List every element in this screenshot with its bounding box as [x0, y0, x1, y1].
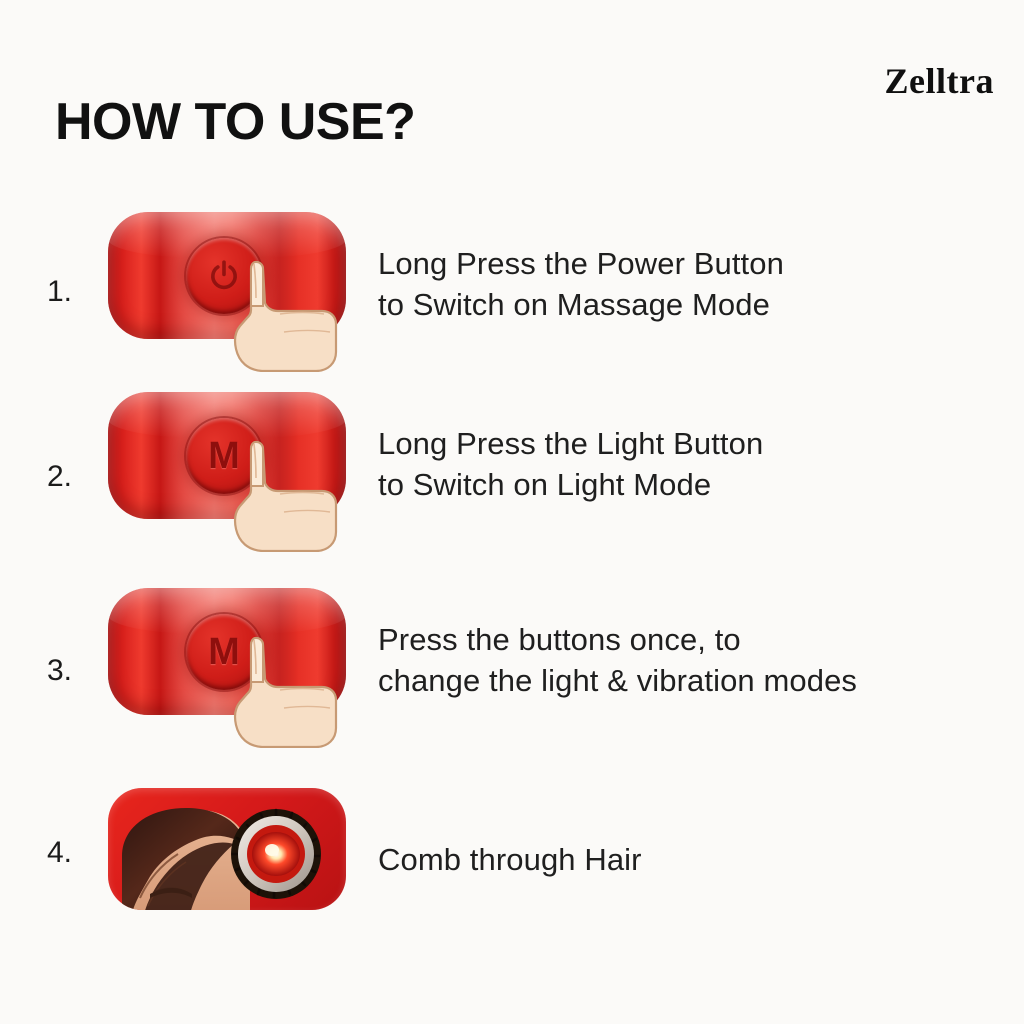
power-icon — [207, 259, 241, 293]
step-instruction-text: Long Press the Power Button to Switch on… — [378, 244, 784, 326]
device-body — [108, 212, 346, 339]
comb-head-light-icon — [230, 808, 322, 900]
power-button[interactable] — [186, 238, 262, 314]
device-illustration-mode: M — [108, 392, 346, 519]
device-illustration-power — [108, 212, 346, 339]
mode-button[interactable]: M — [186, 418, 262, 494]
device-body: M — [108, 392, 346, 519]
step-number: 1. — [47, 275, 72, 309]
photo-tile — [108, 788, 346, 910]
step-instruction-text: Long Press the Light Button to Switch on… — [378, 424, 763, 506]
mode-button[interactable]: M — [186, 614, 262, 690]
mode-button-label: M — [208, 437, 240, 475]
step-number: 3. — [47, 654, 72, 688]
device-body: M — [108, 588, 346, 715]
page-title: HOW TO USE? — [55, 92, 415, 152]
mode-button-label: M — [208, 633, 240, 671]
step-number: 4. — [47, 836, 72, 870]
brand-logo: Zelltra — [885, 60, 994, 102]
device-illustration-mode: M — [108, 588, 346, 715]
step-instruction-text: Press the buttons once, to change the li… — [378, 620, 857, 702]
step-instruction-text: Comb through Hair — [378, 840, 642, 881]
photo-comb-through-hair — [108, 788, 346, 910]
how-to-use-infographic: { "header": { "title": "HOW TO USE?", "b… — [0, 0, 1024, 1024]
step-number: 2. — [47, 460, 72, 494]
